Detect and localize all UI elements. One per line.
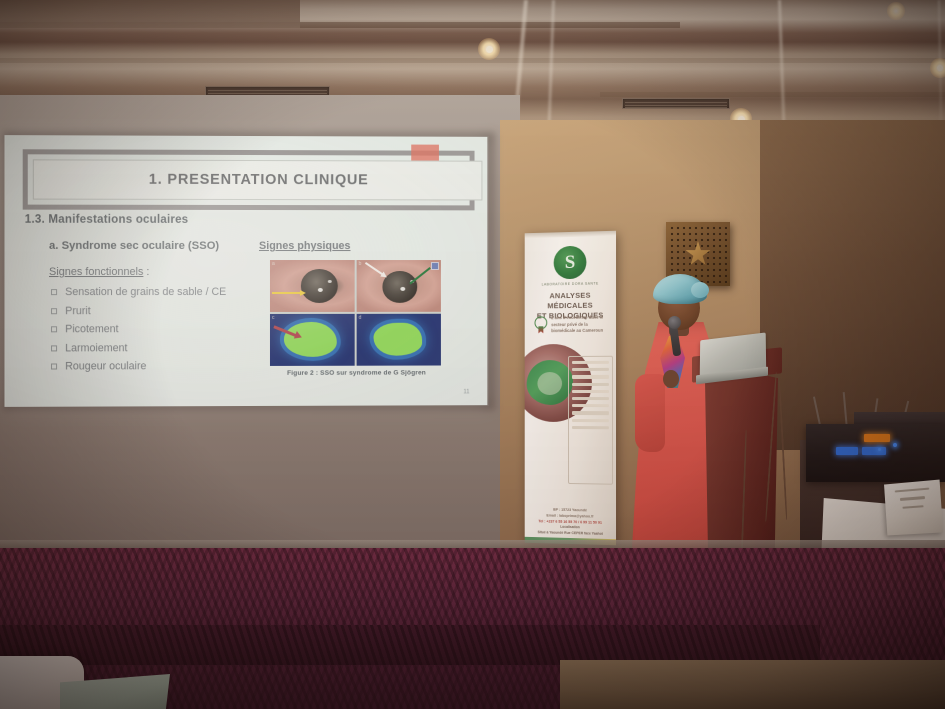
led-indicator-dot (893, 443, 897, 447)
name-card (884, 480, 943, 536)
figure-tag-box (431, 262, 439, 270)
banner-logo-subtitle: LABORATOIRE DORA SANTE (525, 281, 616, 287)
figure-panel-b-label: b (359, 261, 362, 267)
rollup-banner: S LABORATOIRE DORA SANTE ANALYSES MÉDICA… (525, 231, 616, 546)
figure-panel-d: d (357, 314, 441, 366)
figure-panel-c: c (270, 314, 355, 366)
list-item-label: Sensation de grains de sable / CE (65, 286, 226, 298)
slide-figure-grid: a b c (270, 260, 441, 366)
ceiling-beam (0, 0, 300, 28)
figure-arrow-white (365, 262, 384, 276)
ceiling-spotlight-3-core (937, 65, 943, 71)
figure-caption: Figure 2 : SSO sur syndrome de G Sjögren (262, 369, 451, 377)
slide-subsection-heading: a. Syndrome sec oculaire (SSO) (49, 240, 219, 252)
figure-panel-a-label: a (272, 261, 275, 267)
photo-scene: 1. PRESENTATION CLINIQUE 1.3. Manifestat… (0, 0, 945, 709)
list-item-label: Picotement (65, 323, 118, 335)
stage-riser (0, 625, 820, 665)
floor-tile-area (560, 660, 945, 709)
list-item: Rougeur oculaire (51, 360, 272, 373)
banner-top-edge (525, 231, 616, 238)
slide-functional-signs-colon: : (143, 266, 149, 278)
slide-bullet-list: Sensation de grains de sable / CE Prurit… (51, 286, 272, 379)
list-item-label: Larmoiement (65, 342, 127, 354)
led-display-3 (864, 434, 890, 442)
list-item-label: Prurit (65, 305, 91, 317)
led-indicator-dot-2 (878, 448, 881, 451)
presentation-slide: 1. PRESENTATION CLINIQUE 1.3. Manifestat… (4, 135, 487, 407)
slide-physical-signs-heading: Signes physiques (259, 240, 350, 252)
led-display-1 (836, 447, 858, 455)
checkbox-square-icon (51, 308, 57, 314)
banner-logo: S (554, 246, 587, 280)
list-item: Prurit (51, 304, 272, 316)
checkbox-square-icon (51, 289, 57, 295)
checkbox-square-icon (51, 345, 57, 351)
list-item: Picotement (51, 323, 272, 335)
led-display-2 (862, 447, 886, 455)
wall-right-shadowed (760, 120, 945, 450)
figure-panel-d-label: d (359, 315, 362, 321)
award-seal-icon (534, 316, 547, 333)
slide-functional-signs-heading: Signes fonctionnels : (49, 266, 149, 278)
projection-screen: 1. PRESENTATION CLINIQUE 1.3. Manifestat… (4, 135, 487, 407)
slide-section-heading: 1.3. Manifestations oculaires (25, 214, 189, 226)
figure-panel-a: a (270, 260, 355, 312)
ceiling-spotlight-1-core (486, 46, 493, 53)
ceiling-vent-right (622, 98, 730, 109)
speaker-headwrap-knot (691, 282, 709, 298)
figure-stain-blob-c (284, 322, 336, 356)
banner-tagline: 2 ans d'excellence dans le secteur privé… (551, 314, 612, 334)
list-item-label: Rougeur oculaire (65, 360, 146, 372)
banner-service-list (568, 356, 613, 485)
checkbox-square-icon (51, 363, 57, 369)
slide-functional-signs-label: Signes fonctionnels (49, 266, 143, 278)
figure-panel-c-label: c (272, 315, 274, 321)
slide-title: 1. PRESENTATION CLINIQUE (33, 159, 483, 200)
microphone-head (668, 316, 681, 329)
banner-headline-line1: ANALYSES MÉDICALES (529, 290, 612, 311)
list-item: Sensation de grains de sable / CE (51, 286, 272, 298)
speaker-hand (663, 370, 679, 388)
figure-panel-b: b (357, 260, 441, 312)
list-item: Larmoiement (51, 341, 272, 353)
speaker-arm (635, 374, 665, 452)
figure-arrow-yellow (272, 292, 303, 294)
checkbox-square-icon (51, 326, 57, 332)
ceiling-spotlight-4 (887, 2, 905, 20)
banner-footer-location-value: Situé à Yaoundé Rue CEPER face Yaahot (528, 530, 613, 538)
slide-number: 11 (463, 389, 469, 395)
banner-footer-location: Localisation Situé à Yaoundé Rue CEPER f… (528, 524, 613, 537)
figure-stain-blob-d (374, 323, 423, 355)
